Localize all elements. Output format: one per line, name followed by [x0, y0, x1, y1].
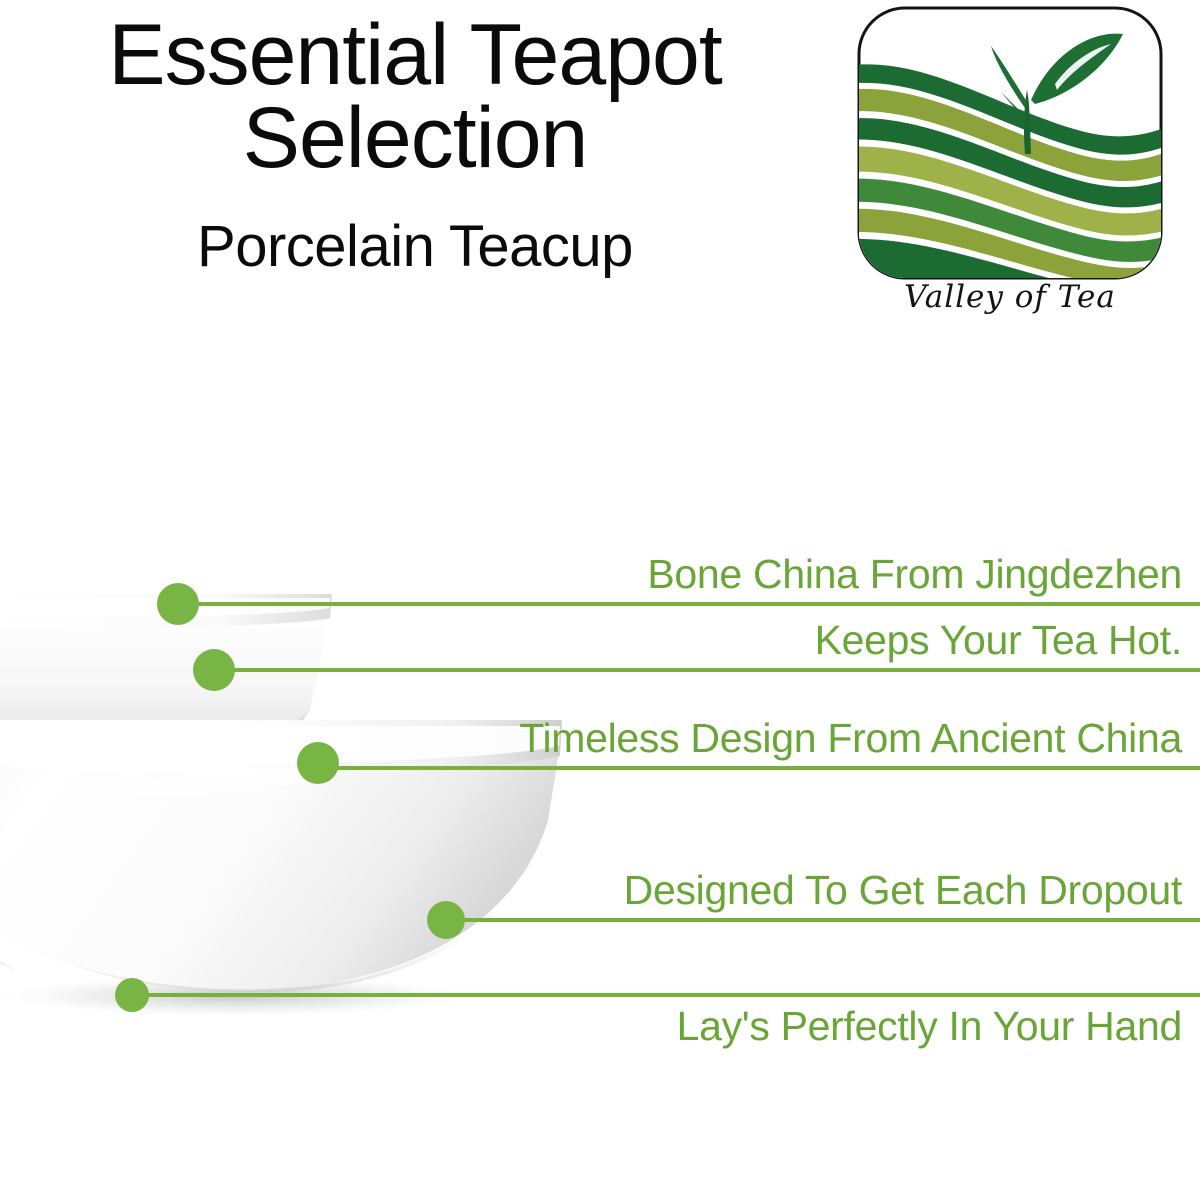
callout-4-line — [446, 918, 1200, 922]
callout-3-label: Timeless Design From Ancient China — [519, 715, 1182, 762]
title-line-1: Essential Teapot — [0, 14, 830, 97]
callout-2-line — [214, 668, 1200, 672]
callout-1-label: Bone China From Jingdezhen — [647, 551, 1182, 598]
tea-sprout-in-valley-logo-icon — [855, 4, 1165, 282]
callout-5-label: Lay's Perfectly In Your Hand — [677, 1003, 1182, 1050]
title-line-2: Selection — [0, 97, 830, 180]
callout-3-dot[interactable] — [297, 742, 339, 784]
header: Essential Teapot Selection Porcelain Tea… — [0, 0, 830, 300]
product-infographic: Essential Teapot Selection Porcelain Tea… — [0, 0, 1200, 1200]
large-porcelain-bowl — [0, 720, 562, 992]
callout-4-dot[interactable] — [427, 901, 465, 939]
callout-4-label: Designed To Get Each Dropout — [624, 867, 1182, 914]
callout-3-line — [318, 766, 1200, 770]
page-title: Essential Teapot Selection — [0, 14, 830, 181]
callout-2-label: Keeps Your Tea Hot. — [815, 617, 1182, 664]
callout-1-line — [178, 602, 1200, 606]
callout-5-dot[interactable] — [115, 978, 149, 1012]
brand-wordmark: Valley of Tea — [855, 279, 1165, 315]
callout-1-dot[interactable] — [157, 583, 199, 625]
brand-logo: Valley of Tea — [855, 4, 1175, 322]
callout-5-line — [132, 993, 1200, 997]
page-subtitle: Porcelain Teacup — [0, 218, 830, 276]
callout-2-dot[interactable] — [193, 649, 235, 691]
